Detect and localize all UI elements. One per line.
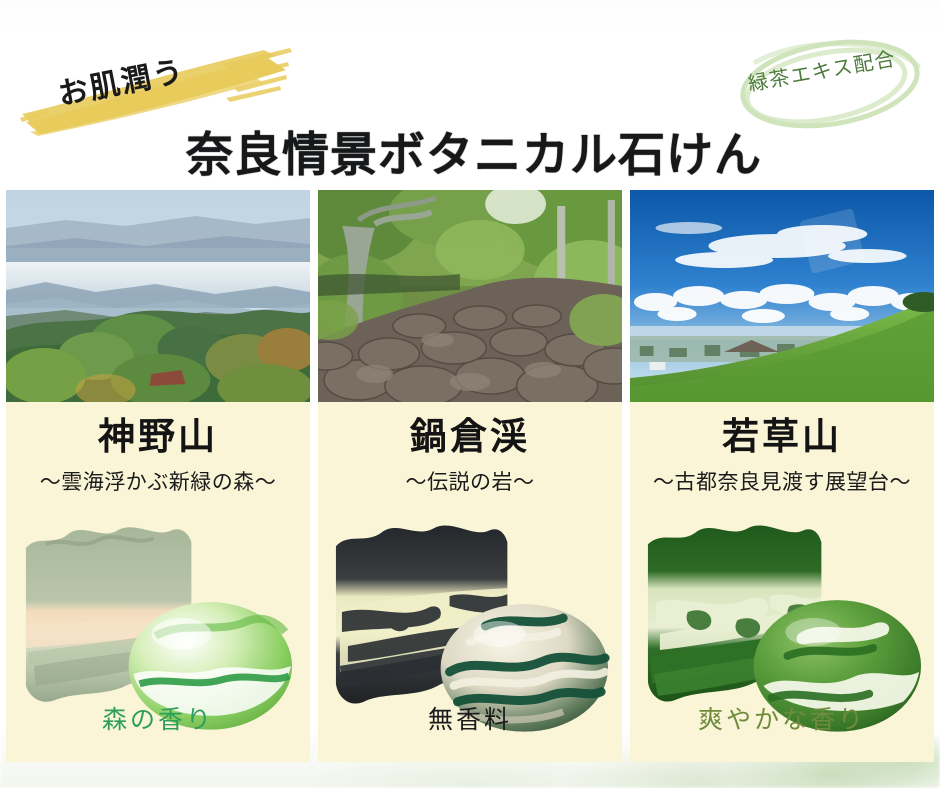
photo-wakakusayama-sky-hill [630, 190, 934, 402]
product-column-kounoyama[interactable]: 神野山 〜雲海浮かぶ新緑の森〜 [6, 190, 310, 762]
scent-label: 爽やかな香り [630, 700, 934, 736]
product-columns: 神野山 〜雲海浮かぶ新緑の森〜 [0, 190, 940, 762]
product-column-wakakusayama[interactable]: 若草山 〜古都奈良見渡す展望台〜 [630, 190, 934, 762]
place-name: 神野山 [98, 418, 218, 455]
place-name: 若草山 [722, 418, 842, 455]
place-subtitle: 〜伝説の岩〜 [406, 466, 535, 496]
badge-green-tea-extract: 緑茶エキス配合 [726, 28, 936, 140]
product-column-nabekurakei[interactable]: 鍋倉渓 〜伝説の岩〜 [318, 190, 622, 762]
page-title: 奈良情景ボタニカル石けん [186, 116, 762, 185]
panel-wakakusayama: 若草山 〜古都奈良見渡す展望台〜 [630, 402, 934, 762]
scent-label: 森の香り [6, 700, 310, 736]
place-subtitle: 〜雲海浮かぶ新緑の森〜 [40, 466, 277, 496]
photo-kounoyama-sea-of-clouds [6, 190, 310, 402]
advertisement-stage: お肌潤う 奈良情景ボタニカル石けん 緑茶エキス配合 [0, 0, 940, 788]
scent-label: 無香料 [318, 700, 622, 736]
panel-kounoyama: 神野山 〜雲海浮かぶ新緑の森〜 [6, 402, 310, 762]
photo-nabekurakei-rock-valley [318, 190, 622, 402]
panel-nabekurakei: 鍋倉渓 〜伝説の岩〜 [318, 402, 622, 762]
place-subtitle: 〜古都奈良見渡す展望台〜 [653, 466, 911, 496]
header: お肌潤う 奈良情景ボタニカル石けん 緑茶エキス配合 [0, 0, 940, 190]
place-name: 鍋倉渓 [410, 418, 530, 455]
